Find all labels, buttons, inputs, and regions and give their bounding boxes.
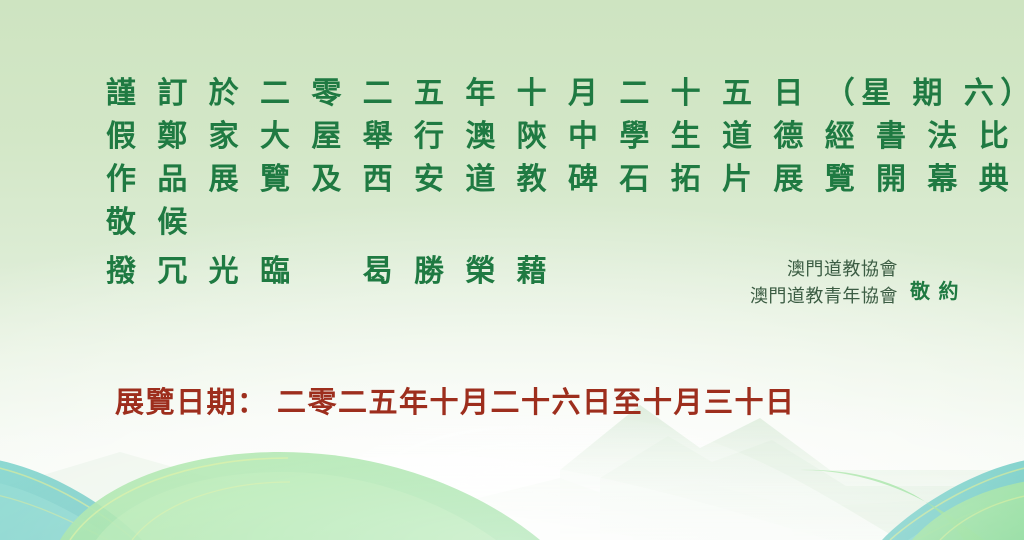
- organization-name-1: 澳門道教協會: [750, 256, 898, 283]
- invitation-salutation: 敬 候: [106, 201, 936, 244]
- invitation-line-3: 作 品 展 覽 及 西 安 道 教 碑 石 拓 片 展 覽 開 幕 典 禮: [106, 158, 936, 201]
- organization-name-2: 澳門道教青年協會: [750, 283, 898, 310]
- signature-closing: 敬 約: [910, 279, 960, 306]
- invitation-line-1: 謹 訂 於 二 零 二 五 年 十 月 二 十 五 日 （星 期 六） 下 午 …: [106, 72, 936, 115]
- invitation-card: 謹 訂 於 二 零 二 五 年 十 月 二 十 五 日 （星 期 六） 下 午 …: [0, 0, 1024, 540]
- invitation-line-2: 假 鄭 家 大 屋 舉 行 澳 陝 中 學 生 道 德 經 書 法 比 賽 優 …: [106, 115, 936, 158]
- exhibition-date: 展覽日期： 二零二五年十月二十六日至十月三十日: [115, 384, 796, 422]
- card-content: 謹 訂 於 二 零 二 五 年 十 月 二 十 五 日 （星 期 六） 下 午 …: [0, 0, 1024, 540]
- organization-names: 澳門道教協會 澳門道教青年協會: [750, 256, 898, 310]
- signature-block: 澳門道教協會 澳門道教青年協會 敬 約: [660, 256, 960, 310]
